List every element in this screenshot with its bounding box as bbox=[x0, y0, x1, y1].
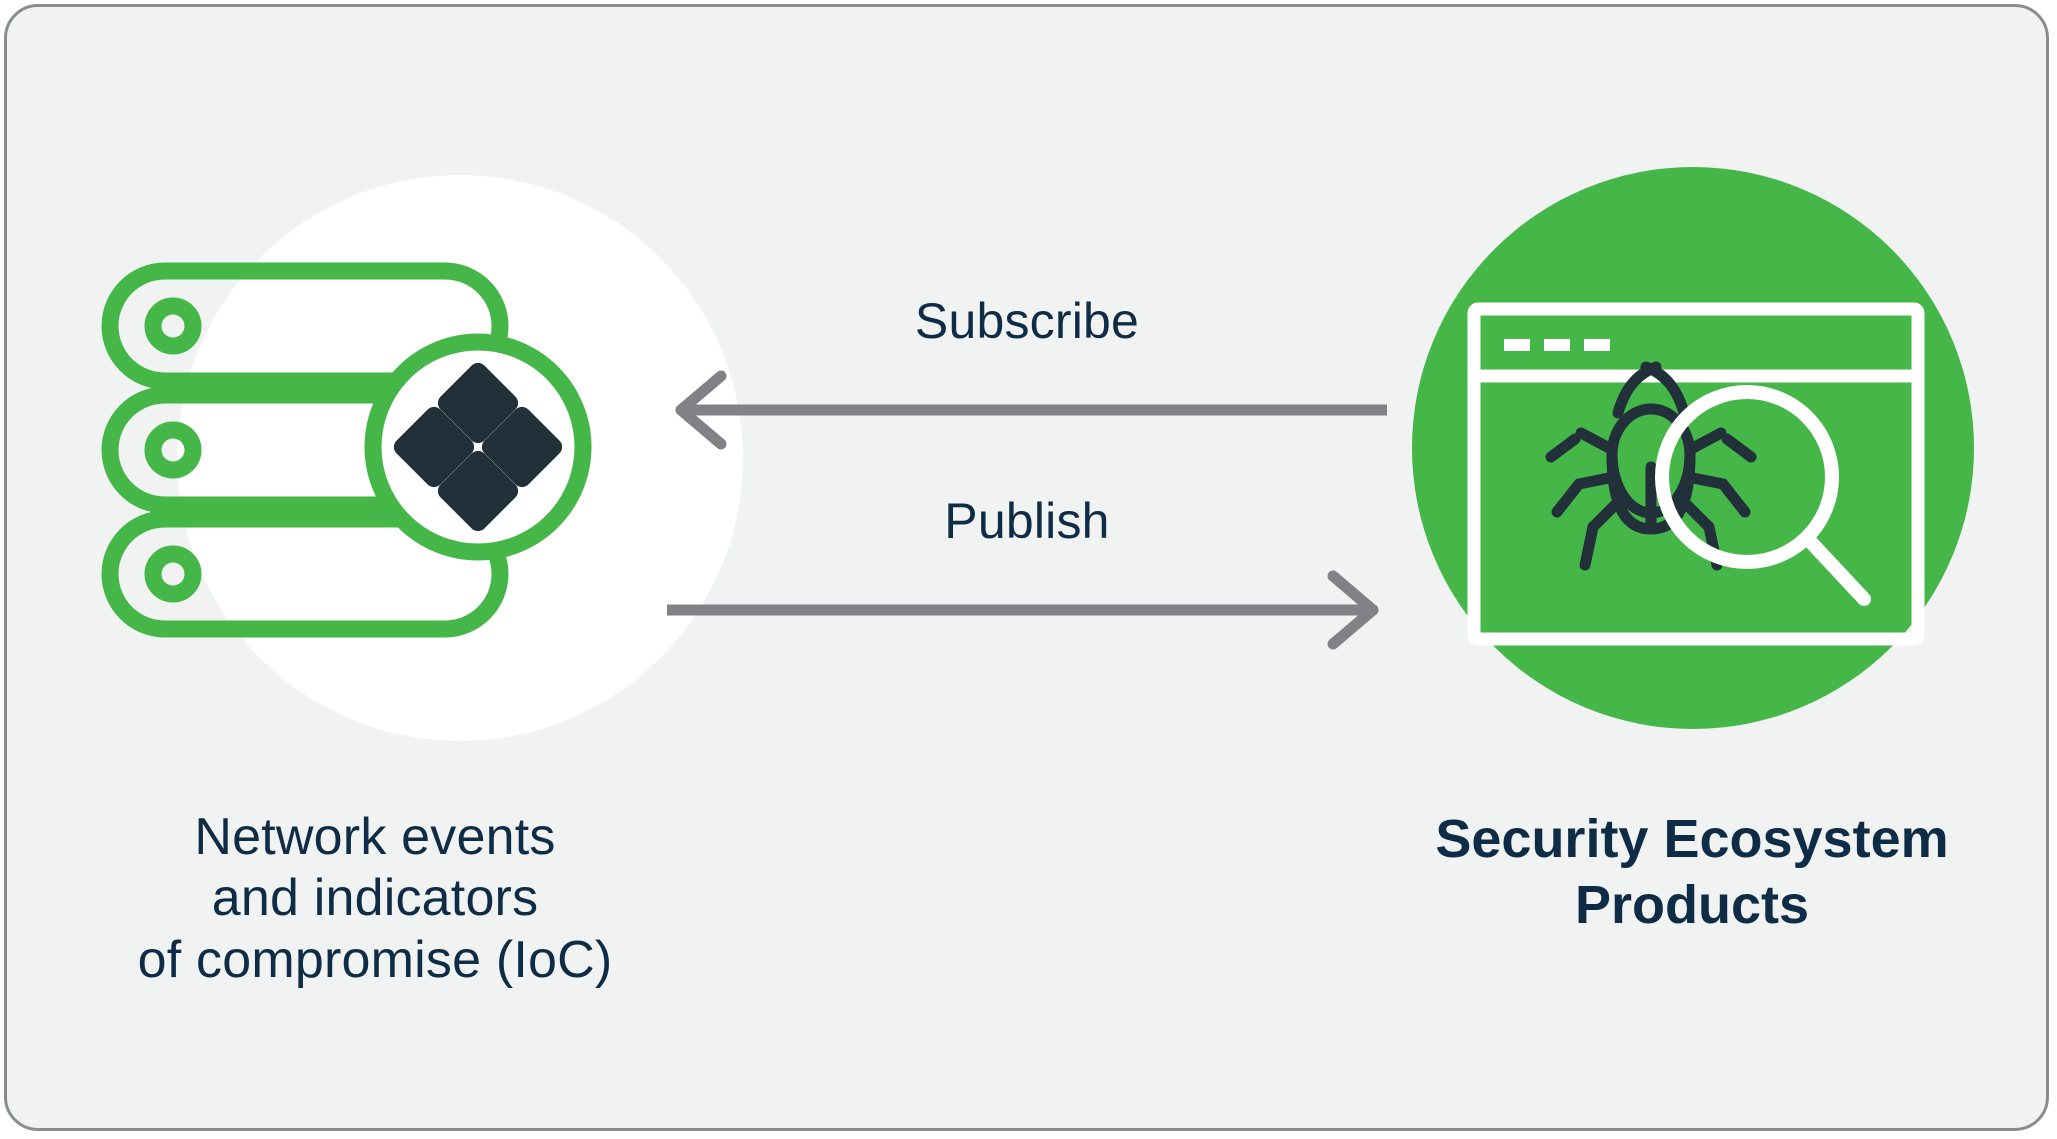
magnifier-icon bbox=[1662, 392, 1864, 599]
diagram-card: Network events and indicators of comprom… bbox=[4, 4, 2049, 1131]
right-caption-line-2: Products bbox=[1372, 873, 2012, 939]
database-stack-icon bbox=[85, 227, 645, 687]
arrow-left-icon bbox=[667, 368, 1387, 452]
database-led-bottom bbox=[153, 554, 193, 594]
right-node-caption: Security Ecosystem Products bbox=[1372, 807, 2012, 939]
flow-publish-label: Publish bbox=[667, 492, 1387, 550]
browser-dots bbox=[1504, 339, 1610, 351]
four-diamonds-badge-icon bbox=[373, 342, 583, 552]
right-node-group: Security Ecosystem Products bbox=[1382, 167, 2002, 1047]
database-led-top bbox=[153, 306, 193, 346]
left-node-group: Network events and indicators of comprom… bbox=[85, 167, 685, 1047]
browser-bug-magnifier-icon bbox=[1412, 167, 1974, 729]
arrow-right-icon bbox=[667, 568, 1387, 652]
left-caption-line-1: Network events bbox=[65, 807, 685, 868]
flow-subscribe-label: Subscribe bbox=[667, 292, 1387, 350]
database-led-middle bbox=[153, 430, 193, 470]
left-caption-line-3: of compromise (IoC) bbox=[65, 930, 685, 991]
flow-subscribe: Subscribe bbox=[667, 292, 1387, 452]
left-node-caption: Network events and indicators of comprom… bbox=[65, 807, 685, 991]
flow-publish: Publish bbox=[667, 492, 1387, 652]
right-caption-line-1: Security Ecosystem bbox=[1372, 807, 2012, 873]
left-caption-line-2: and indicators bbox=[65, 868, 685, 929]
